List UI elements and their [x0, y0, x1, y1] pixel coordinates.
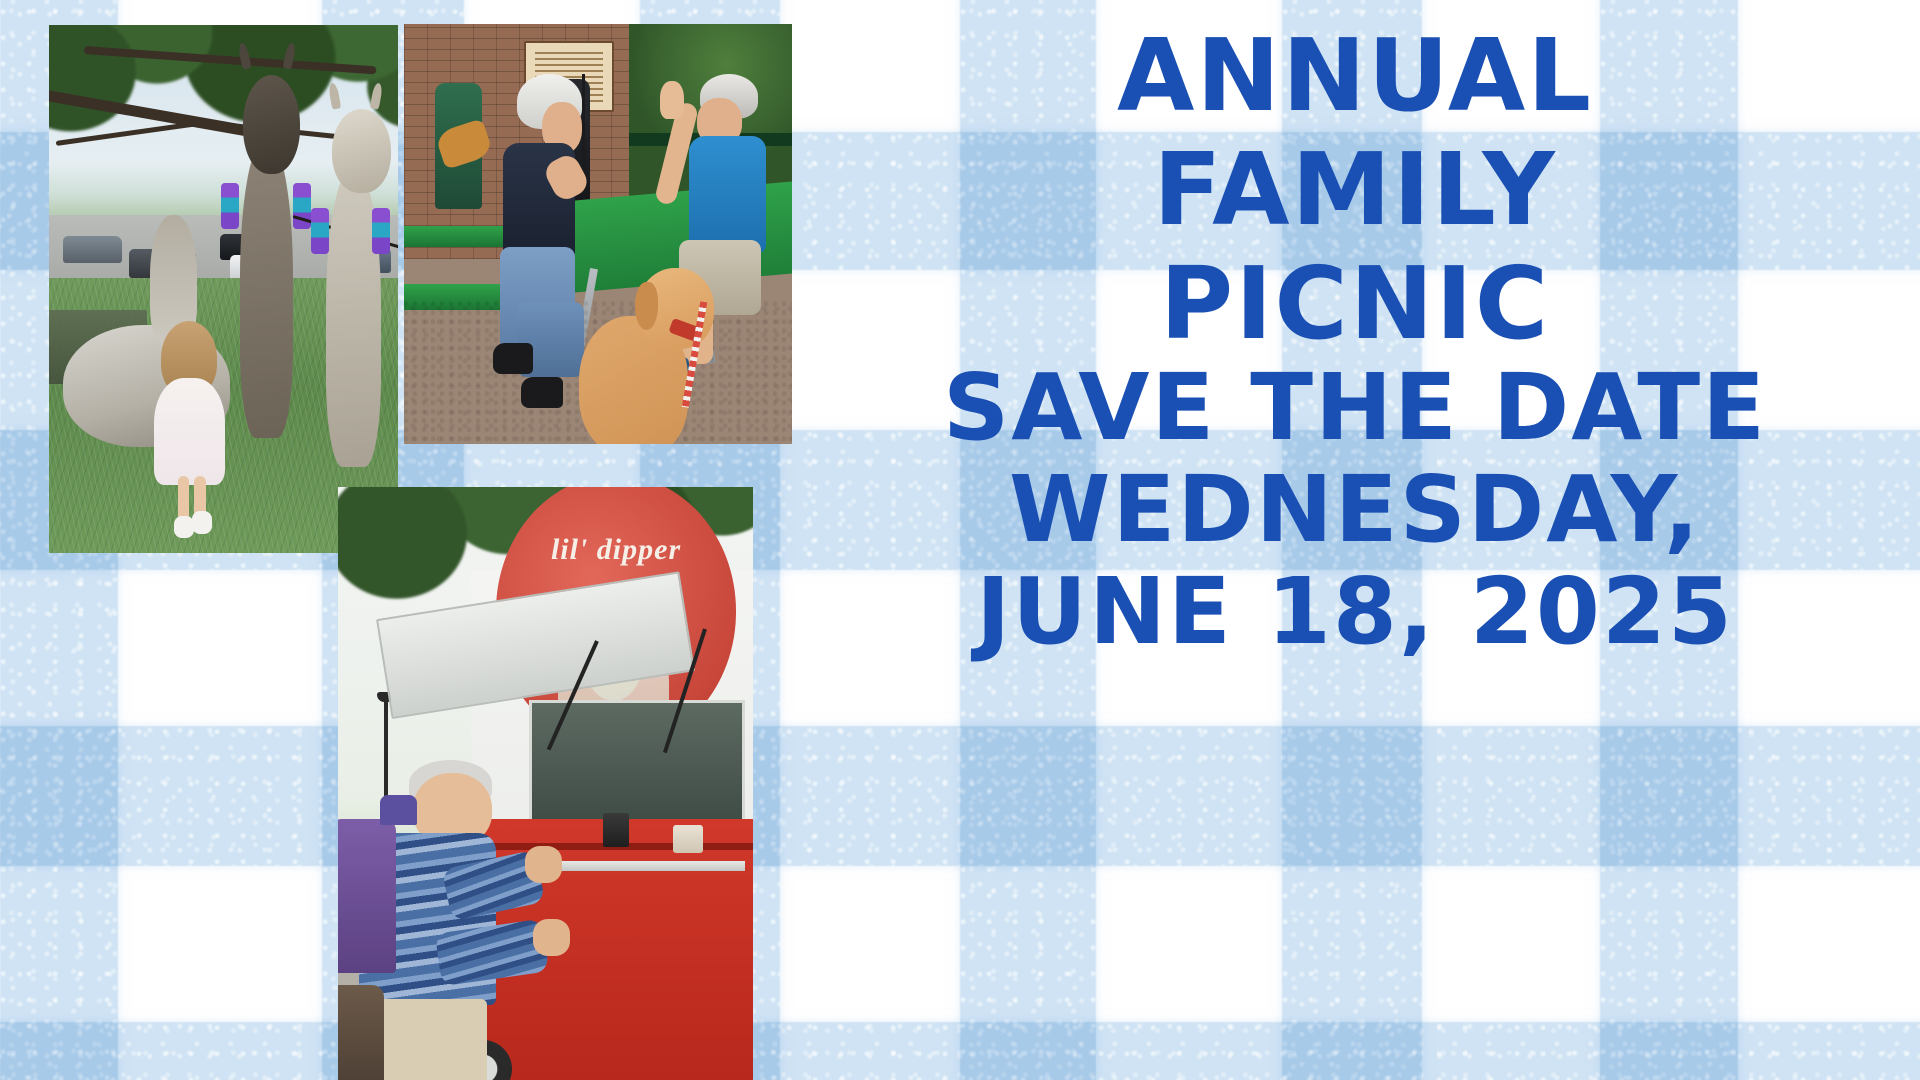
customer-shorts — [367, 999, 487, 1080]
photo-llamas — [49, 25, 398, 553]
headline-line-picnic: PICNIC — [1160, 254, 1550, 354]
girl-shoe — [174, 516, 194, 538]
llama-scene — [49, 25, 398, 553]
llama-tassel — [372, 208, 390, 254]
llama-tassel — [311, 208, 329, 254]
headline-line-annual: ANNUAL — [1117, 26, 1593, 126]
bystander-purple — [338, 819, 396, 973]
headline-line-save-the-date: SAVE THE DATE — [943, 362, 1767, 454]
llama-head — [243, 75, 300, 174]
headline-line-family: FAMILY — [1153, 140, 1557, 240]
headline-block: ANNUAL FAMILY PICNIC SAVE THE DATE WEDNE… — [790, 0, 1920, 1080]
photo-ice-cream-truck: lil' dipper SOFT SERVE ICE CREAM — [338, 487, 753, 1080]
customer-hand — [533, 919, 570, 956]
photo-picnic-table — [404, 24, 792, 444]
headline-line-weekday: WEDNESDAY, — [1009, 464, 1701, 556]
llama-head — [332, 109, 391, 193]
straw-cup — [673, 825, 703, 853]
bystander-child — [338, 985, 384, 1080]
dog-goldendoodle — [579, 268, 726, 444]
napkin-holder — [603, 813, 629, 847]
man-hand — [660, 81, 684, 119]
parked-car — [63, 236, 122, 262]
llama-tassel — [221, 183, 239, 229]
truck-scene: lil' dipper SOFT SERVE ICE CREAM — [338, 487, 753, 1080]
bystander-cap — [380, 795, 417, 825]
poster-canvas: lil' dipper SOFT SERVE ICE CREAM — [0, 0, 1920, 1080]
customer-hand — [525, 846, 562, 883]
llama-right — [307, 109, 398, 489]
headline-line-date: JUNE 18, 2025 — [976, 566, 1734, 658]
truck-counter-ledge — [554, 861, 745, 871]
picnic-scene — [404, 24, 792, 444]
llama-neck — [240, 141, 292, 438]
girl-shoe — [192, 511, 212, 533]
man-blue-shirt — [689, 136, 766, 253]
man-shoe — [521, 377, 563, 408]
man-shoe — [493, 343, 533, 374]
girl-figure — [147, 321, 238, 543]
girl-dress — [154, 378, 225, 484]
